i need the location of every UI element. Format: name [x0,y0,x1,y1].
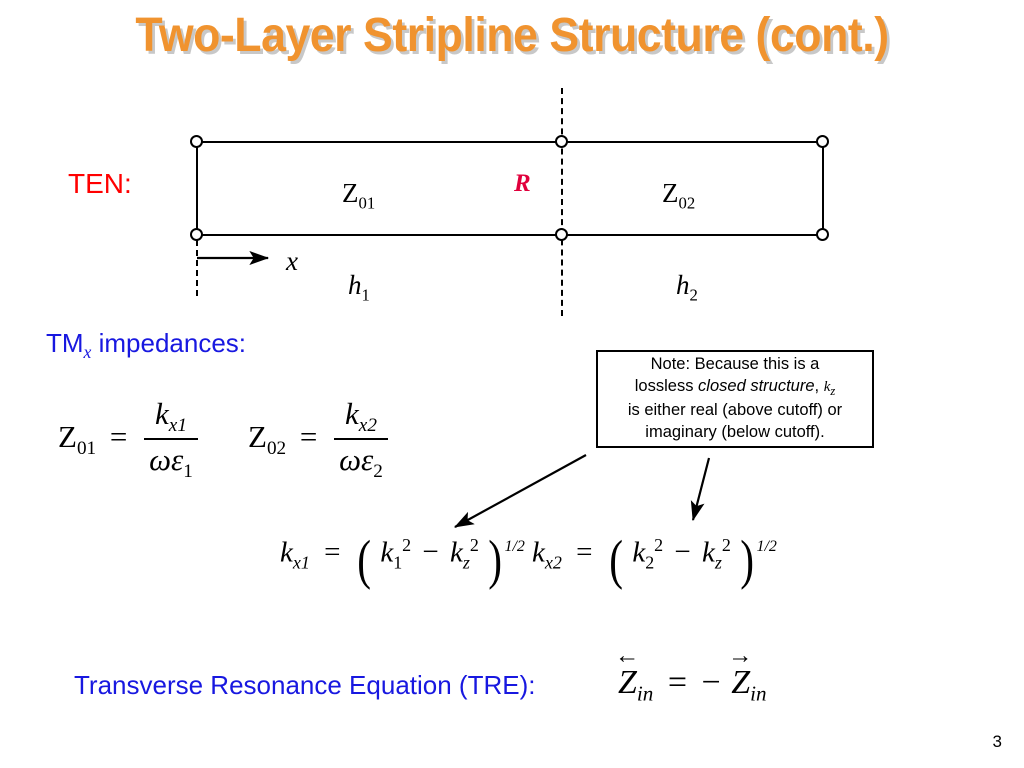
height-label-h2: h2 [676,270,698,305]
equation-z02: Z02 = kx2 ωε2 [248,396,391,483]
right-arrow-accent: → [728,644,752,668]
equation-z01: Z01 = kx1 ωε1 [58,396,201,483]
note-line-3: is either real (above cutoff) or [628,401,842,419]
equation-kx1: kx1 = ( k12 − kz2 )1/2 [280,528,525,591]
left-arrow-accent: ← [615,644,639,668]
terminal-node-bottom-center [555,228,568,241]
wire-top [196,141,823,143]
note-text: Note: Because this is a lossless closed … [622,354,848,443]
reference-plane-dashed-line [561,88,563,316]
page-title: Two-Layer Stripline Structure (cont.) [36,8,988,63]
impedance-label-z02: Z02 [662,178,695,213]
note-symbol-kz: kz [824,379,836,395]
height-label-h1: h1 [348,270,370,305]
note-line-1: Note: Because this is a [651,355,820,373]
note-line-2-post: , [815,377,824,395]
wire-bottom [196,234,823,236]
terminal-node-bottom-right [816,228,829,241]
origin-dashed-line [196,240,198,296]
wire-right [822,141,824,234]
note-line-4: imaginary (below cutoff). [645,423,824,441]
terminal-node-top-right [816,135,829,148]
note-box: Note: Because this is a lossless closed … [596,350,874,448]
axis-label-x: x [286,246,298,277]
terminal-node-top-center [555,135,568,148]
terminal-node-top-left [190,135,203,148]
section-heading-tm-impedances: TMx impedances: [46,328,246,363]
reference-plane-label-r: R [514,170,531,198]
ten-label: TEN: [68,168,132,200]
wire-left [196,141,198,234]
equation-kx2: kx2 = ( k22 − kz2 )1/2 [532,528,777,591]
section-heading-tre: Transverse Resonance Equation (TRE): [74,670,535,701]
terminal-node-bottom-left [190,228,203,241]
note-line-2-italic: closed structure [698,377,814,395]
note-arrow-to-kx2 [693,458,709,520]
note-line-2-pre: lossless [635,377,698,395]
note-arrow-to-kx1 [455,455,586,527]
impedance-label-z01: Z01 [342,178,375,213]
page-number: 3 [993,732,1002,752]
slide-canvas: Two-Layer Stripline Structure (cont.) TE… [0,0,1024,768]
equation-tre: ←Zin = − →Zin [618,662,767,706]
